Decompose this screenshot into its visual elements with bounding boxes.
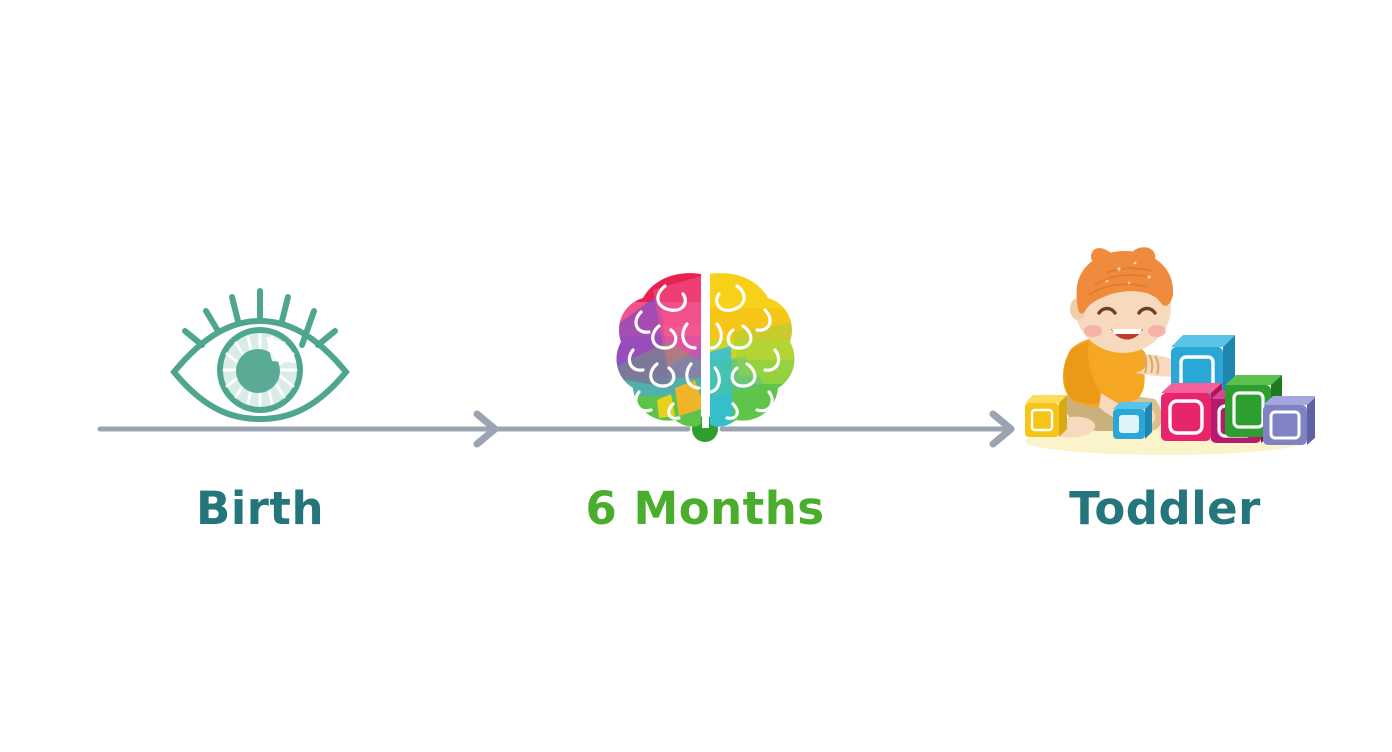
- toddler-artwork: [1000, 250, 1330, 450]
- toddler-cheek-left: [1084, 325, 1102, 337]
- stage-label-toddler: Toddler: [1000, 486, 1330, 531]
- brain-central-fissure: [702, 270, 709, 428]
- block-periwinkle: [1263, 396, 1315, 445]
- stage-six-months: 6 Months: [540, 250, 870, 560]
- brain-icon: [613, 268, 798, 433]
- toddler-playing-blocks-illustration: [1015, 243, 1315, 458]
- stage-label-six-months: 6 Months: [540, 486, 870, 531]
- stage-birth: Birth: [95, 250, 425, 560]
- timeline-infographic: Birth: [0, 0, 1392, 752]
- birth-artwork: [95, 250, 425, 450]
- stage-label-birth: Birth: [95, 486, 425, 531]
- block-blue-small: [1113, 402, 1152, 439]
- toddler-cheek-right: [1148, 325, 1166, 337]
- brain-left-hemisphere: [613, 268, 708, 433]
- stage-toddler: Toddler: [1000, 250, 1330, 560]
- six-months-artwork: [540, 250, 870, 450]
- brain-right-hemisphere: [703, 268, 798, 433]
- arrowhead-after-birth: [477, 414, 495, 444]
- eye-icon: [160, 275, 360, 425]
- block-yellow: [1025, 395, 1067, 437]
